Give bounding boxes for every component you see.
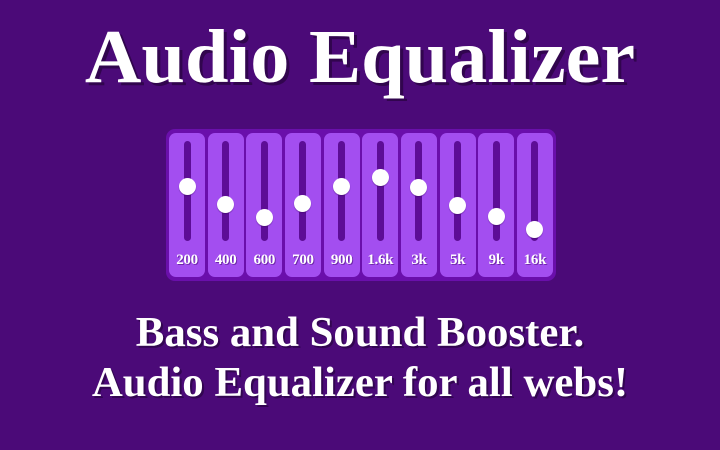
band-frequency-label: 9k: [478, 249, 514, 275]
band-frequency-label: 3k: [401, 249, 437, 275]
band-slider[interactable]: [246, 133, 282, 249]
promo-banner: Audio Equalizer 2004006007009001.6k3k5k9…: [0, 0, 720, 450]
footer-tagline: Bass and Sound Booster. Audio Equalizer …: [0, 308, 720, 408]
band-slider[interactable]: [285, 133, 321, 249]
equalizer-panel: 2004006007009001.6k3k5k9k16k: [166, 129, 556, 281]
band-frequency-label: 200: [169, 249, 205, 275]
equalizer-band-9k[interactable]: 9k: [478, 133, 514, 277]
equalizer-band-700[interactable]: 700: [285, 133, 321, 277]
slider-knob[interactable]: [217, 196, 234, 213]
band-slider[interactable]: [478, 133, 514, 249]
slider-knob[interactable]: [256, 209, 273, 226]
band-slider[interactable]: [517, 133, 553, 249]
slider-track[interactable]: [493, 141, 500, 241]
slider-knob[interactable]: [179, 178, 196, 195]
slider-knob[interactable]: [410, 179, 427, 196]
slider-knob[interactable]: [372, 169, 389, 186]
equalizer-band-200[interactable]: 200: [169, 133, 205, 277]
equalizer-band-400[interactable]: 400: [208, 133, 244, 277]
slider-knob[interactable]: [294, 195, 311, 212]
equalizer-band-1.6k[interactable]: 1.6k: [362, 133, 398, 277]
slider-track[interactable]: [454, 141, 461, 241]
band-frequency-label: 700: [285, 249, 321, 275]
band-slider[interactable]: [362, 133, 398, 249]
slider-knob[interactable]: [333, 178, 350, 195]
slider-track[interactable]: [222, 141, 229, 241]
band-slider[interactable]: [401, 133, 437, 249]
equalizer-band-600[interactable]: 600: [246, 133, 282, 277]
band-frequency-label: 900: [324, 249, 360, 275]
page-title: Audio Equalizer: [0, 14, 720, 100]
band-frequency-label: 1.6k: [362, 249, 398, 275]
slider-track[interactable]: [261, 141, 268, 241]
band-slider[interactable]: [440, 133, 476, 249]
slider-knob[interactable]: [488, 208, 505, 225]
slider-knob[interactable]: [526, 221, 543, 238]
band-slider[interactable]: [324, 133, 360, 249]
equalizer-band-3k[interactable]: 3k: [401, 133, 437, 277]
band-frequency-label: 5k: [440, 249, 476, 275]
band-slider[interactable]: [208, 133, 244, 249]
band-slider[interactable]: [169, 133, 205, 249]
band-frequency-label: 16k: [517, 249, 553, 275]
slider-knob[interactable]: [449, 197, 466, 214]
band-frequency-label: 600: [246, 249, 282, 275]
slider-track[interactable]: [377, 141, 384, 241]
equalizer-band-16k[interactable]: 16k: [517, 133, 553, 277]
tagline-line-1: Bass and Sound Booster.: [0, 308, 720, 358]
tagline-line-2: Audio Equalizer for all webs!: [0, 358, 720, 408]
slider-track[interactable]: [299, 141, 306, 241]
band-frequency-label: 400: [208, 249, 244, 275]
equalizer-band-900[interactable]: 900: [324, 133, 360, 277]
equalizer-band-5k[interactable]: 5k: [440, 133, 476, 277]
